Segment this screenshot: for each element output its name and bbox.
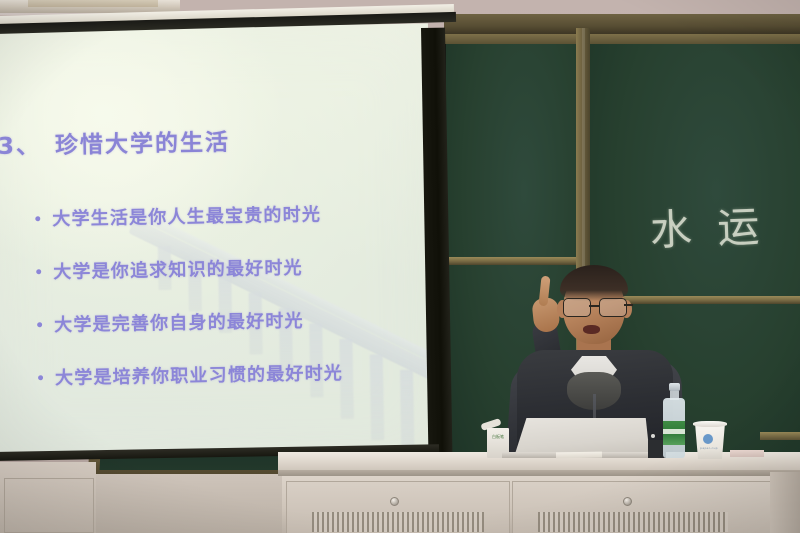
podium-vent-right — [538, 512, 728, 532]
bullet-dot-icon — [35, 216, 40, 221]
podium-lock-right[interactable] — [623, 497, 632, 506]
list-item: 大学是你追求知识的最好时光 — [36, 252, 416, 285]
slide-title: 3、珍惜大学的生活 — [0, 123, 230, 161]
desk-left-cabinet-extension — [96, 474, 286, 533]
glasses-lens-left — [563, 298, 591, 317]
slide-bullet-list: 大学生活是你人生最宝贵的时光 大学是你追求知识的最好时光 大学是完善你自身的最好… — [35, 199, 419, 418]
lecture-hall-photo: 水 运 3、珍惜大学的生活 — [0, 0, 800, 533]
jacket-brand-dot — [651, 434, 655, 438]
paper-cup-logo-icon — [703, 434, 713, 444]
list-item: 大学是完善你自身的最好时光 — [37, 305, 417, 338]
podium-vent-left — [312, 512, 484, 532]
podium-right-side — [770, 472, 800, 533]
bullet-text: 大学是完善你自身的最好时光 — [54, 307, 304, 337]
glasses-temple — [624, 304, 633, 306]
bullet-dot-icon — [38, 375, 43, 380]
podium-lock-left[interactable] — [390, 497, 399, 506]
bullet-text: 大学是你追求知识的最好时光 — [53, 254, 303, 284]
projection-screen: 3、珍惜大学的生活 大学生活是你人生最宝贵的时光 大学是你追求知识的最好时光 大… — [0, 23, 435, 456]
chalk-tray-upper — [760, 432, 800, 440]
blackboard-ledge-left — [446, 257, 576, 265]
water-bottle — [663, 383, 685, 458]
presenter-mouth — [583, 325, 600, 334]
slide-title-text: 珍惜大学的生活 — [55, 130, 230, 159]
bullet-text: 大学生活是你人生最宝贵的时光 — [52, 200, 321, 231]
paper-cup-rim — [693, 421, 727, 427]
paper-cup-label: paper-cup — [698, 446, 720, 452]
bottle-label-stripe — [663, 429, 685, 434]
glasses-bridge — [589, 305, 599, 307]
list-item: 大学生活是你人生最宝贵的时光 — [35, 199, 415, 232]
bullet-dot-icon — [37, 322, 42, 327]
desk-left-cabinet-panel — [4, 478, 94, 533]
ceiling-trim-inner — [28, 0, 158, 7]
list-item: 大学是培养你职业习惯的最好时光 — [38, 358, 418, 391]
blackboard-top-rail — [444, 14, 800, 34]
bottle-neck — [670, 391, 679, 400]
paper-slip — [556, 452, 602, 459]
bottle-cap — [669, 383, 680, 391]
paper-slip-right — [730, 450, 764, 457]
glasses-icon — [563, 298, 627, 315]
glasses-lens-right — [599, 298, 627, 317]
blackboard-top-rail-lower — [444, 34, 800, 44]
bullet-dot-icon — [36, 269, 41, 274]
bullet-text: 大学是培养你职业习惯的最好时光 — [55, 359, 343, 390]
slide-title-number: 3、 — [0, 133, 41, 160]
presenter-hair — [560, 265, 628, 301]
microphone-box-label: 白板笔 — [490, 434, 506, 452]
